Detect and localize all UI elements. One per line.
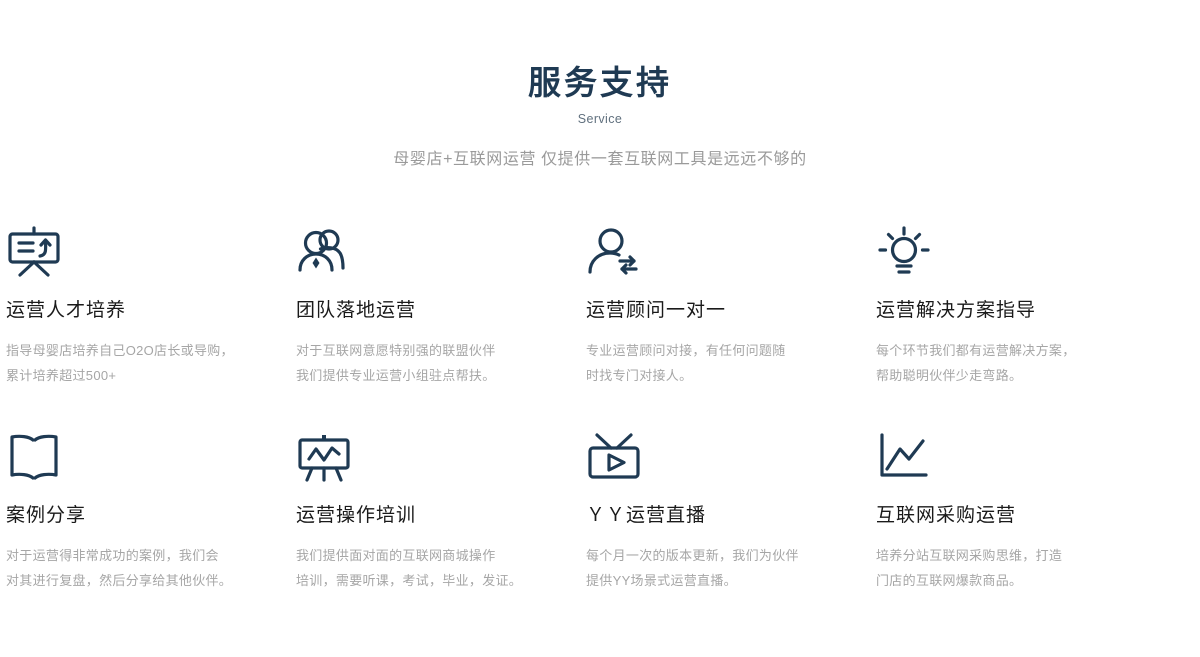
lightbulb-idea-icon (876, 222, 1138, 282)
service-card-description: 每个环节我们都有运营解决方案， 帮助聪明伙伴少走弯路。 (876, 338, 1126, 388)
page-subtitle: Service (0, 111, 1200, 127)
service-card[interactable]: 运营操作培训 我们提供面对面的互联网商城操作 培训，需要听课，考试，毕业，发证。 (296, 427, 586, 632)
service-card[interactable]: 团队落地运营 对于互联网意愿特别强的联盟伙伴 我们提供专业运营小组驻点帮扶。 (296, 222, 586, 427)
page-tagline: 母婴店+互联网运营 仅提供一套互联网工具是远远不够的 (0, 148, 1200, 172)
description-line: 我们提供面对面的互联网商城操作 (296, 543, 546, 568)
service-card-title: 运营操作培训 (296, 503, 558, 529)
description-line: 对于互联网意愿特别强的联盟伙伴 (296, 338, 546, 363)
description-line: 培训，需要听课，考试，毕业，发证。 (296, 568, 546, 593)
description-line: 每个环节我们都有运营解决方案， (876, 338, 1126, 363)
line-chart-axis-icon (876, 427, 1138, 487)
service-card-description: 对于运营得非常成功的案例，我们会 对其进行复盘，然后分享给其他伙伴。 (6, 543, 256, 593)
service-grid: 运营人才培养 指导母婴店培养自己O2O店长或导购， 累计培养超过500+ 团队落… (0, 222, 1200, 632)
service-card[interactable]: 运营解决方案指导 每个环节我们都有运营解决方案， 帮助聪明伙伴少走弯路。 (876, 222, 1166, 427)
description-line: 累计培养超过500+ (6, 363, 256, 388)
service-card[interactable]: 运营顾问一对一 专业运营顾问对接，有任何问题随 时找专门对接人。 (586, 222, 876, 427)
description-line: 指导母婴店培养自己O2O店长或导购， (6, 338, 256, 363)
description-line: 门店的互联网爆款商品。 (876, 568, 1126, 593)
service-card-description: 我们提供面对面的互联网商城操作 培训，需要听课，考试，毕业，发证。 (296, 543, 546, 593)
presentation-board-arrow-icon (6, 222, 268, 282)
description-line: 培养分站互联网采购思维，打造 (876, 543, 1126, 568)
service-card-description: 专业运营顾问对接，有任何问题随 时找专门对接人。 (586, 338, 836, 388)
service-card-description: 对于互联网意愿特别强的联盟伙伴 我们提供专业运营小组驻点帮扶。 (296, 338, 546, 388)
description-line: 帮助聪明伙伴少走弯路。 (876, 363, 1126, 388)
person-exchange-icon (586, 222, 848, 282)
page-title: 服务支持 (0, 62, 1200, 104)
service-card-title: 互联网采购运营 (876, 503, 1138, 529)
description-line: 时找专门对接人。 (586, 363, 836, 388)
service-card-title: ＹＹ运营直播 (586, 503, 848, 529)
service-card[interactable]: 运营人才培养 指导母婴店培养自己O2O店长或导购， 累计培养超过500+ (6, 222, 296, 427)
description-line: 提供YY场景式运营直播。 (586, 568, 836, 593)
service-card-title: 运营解决方案指导 (876, 298, 1138, 324)
service-card[interactable]: 案例分享 对于运营得非常成功的案例，我们会 对其进行复盘，然后分享给其他伙伴。 (6, 427, 296, 632)
service-card-description: 指导母婴店培养自己O2O店长或导购， 累计培养超过500+ (6, 338, 256, 388)
description-line: 我们提供专业运营小组驻点帮扶。 (296, 363, 546, 388)
description-line: 每个月一次的版本更新，我们为伙伴 (586, 543, 836, 568)
service-card[interactable]: 互联网采购运营 培养分站互联网采购思维，打造 门店的互联网爆款商品。 (876, 427, 1166, 632)
description-line: 专业运营顾问对接，有任何问题随 (586, 338, 836, 363)
service-card-title: 团队落地运营 (296, 298, 558, 324)
description-line: 对其进行复盘，然后分享给其他伙伴。 (6, 568, 256, 593)
service-card-description: 培养分站互联网采购思维，打造 门店的互联网爆款商品。 (876, 543, 1126, 593)
service-support-page: 服务支持 Service 母婴店+互联网运营 仅提供一套互联网工具是远远不够的 … (0, 0, 1200, 657)
page-header: 服务支持 Service 母婴店+互联网运营 仅提供一套互联网工具是远远不够的 (0, 0, 1200, 172)
service-card[interactable]: ＹＹ运营直播 每个月一次的版本更新，我们为伙伴 提供YY场景式运营直播。 (586, 427, 876, 632)
service-card-title: 运营人才培养 (6, 298, 268, 324)
open-book-icon (6, 427, 268, 487)
service-card-title: 案例分享 (6, 503, 268, 529)
description-line: 对于运营得非常成功的案例，我们会 (6, 543, 256, 568)
service-card-description: 每个月一次的版本更新，我们为伙伴 提供YY场景式运营直播。 (586, 543, 836, 593)
tv-play-icon (586, 427, 848, 487)
service-card-title: 运营顾问一对一 (586, 298, 848, 324)
easel-chart-icon (296, 427, 558, 487)
two-people-team-icon (296, 222, 558, 282)
